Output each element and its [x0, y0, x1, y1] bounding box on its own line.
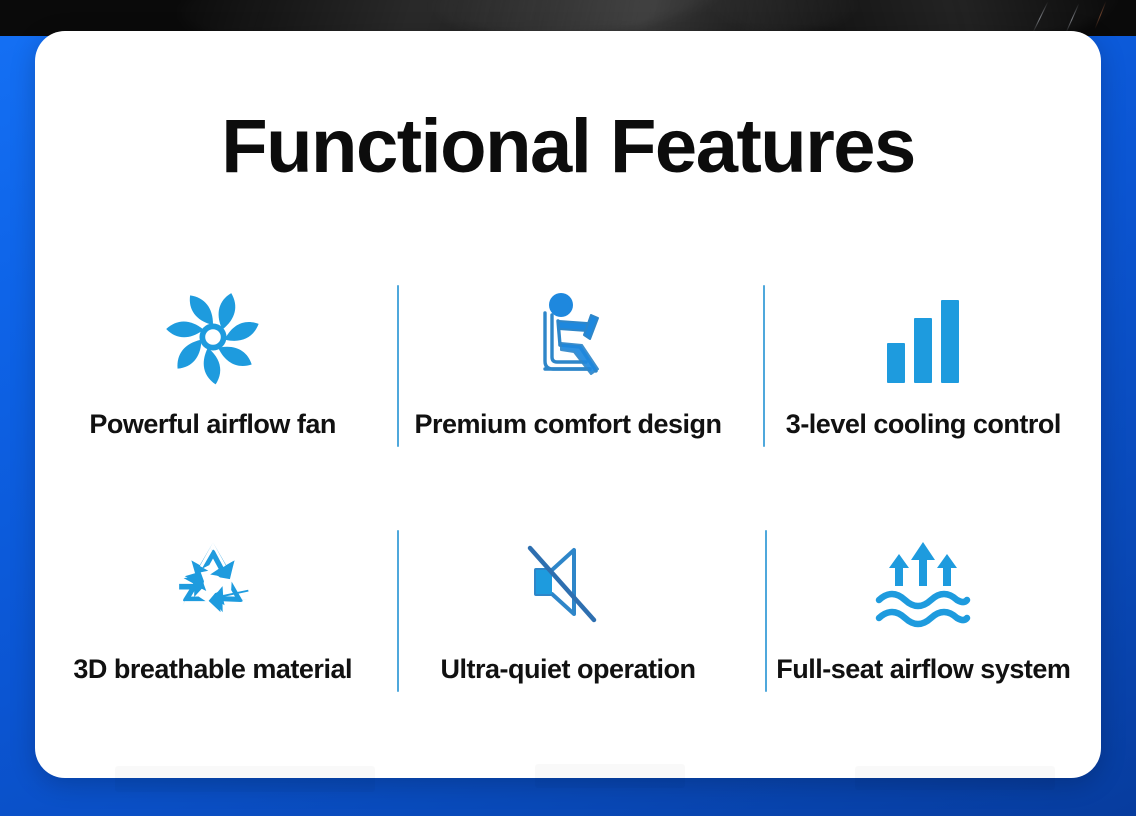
feature-label: 3-level cooling control [786, 409, 1061, 440]
background-artifact [855, 766, 1055, 790]
background-artifact [115, 766, 375, 792]
feature-row: Powerful airflow fan [35, 259, 1101, 504]
feature-row: 3D breathable material Ultra-quiet opera… [35, 504, 1101, 749]
background-artifact [535, 764, 685, 788]
recycle-icon [165, 522, 261, 642]
feature-label: Full-seat airflow system [776, 654, 1070, 685]
feature-label: Powerful airflow fan [89, 409, 336, 440]
muted-speaker-icon [518, 522, 618, 642]
seated-person-car-seat-icon [518, 277, 618, 397]
feature-item-full-seat-airflow-system: Full-seat airflow system [746, 504, 1101, 749]
feature-card: Functional Features [35, 31, 1101, 778]
three-bar-level-icon [875, 277, 971, 397]
feature-label: 3D breathable material [73, 654, 352, 685]
page-title: Functional Features [35, 109, 1101, 185]
airflow-waves-arrows-icon [869, 522, 977, 642]
feature-item-premium-comfort-design: Premium comfort design [390, 259, 745, 504]
feature-item-3d-breathable-material: 3D breathable material [35, 504, 390, 749]
feature-item-powerful-airflow-fan: Powerful airflow fan [35, 259, 390, 504]
feature-grid: Powerful airflow fan [35, 259, 1101, 749]
promo-banner: Functional Features [0, 0, 1136, 816]
fan-blades-icon [161, 277, 265, 397]
feature-label: Ultra-quiet operation [440, 654, 695, 685]
feature-item-ultra-quiet-operation: Ultra-quiet operation [390, 504, 745, 749]
feature-item-3-level-cooling-control: 3-level cooling control [746, 259, 1101, 504]
feature-label: Premium comfort design [414, 409, 721, 440]
